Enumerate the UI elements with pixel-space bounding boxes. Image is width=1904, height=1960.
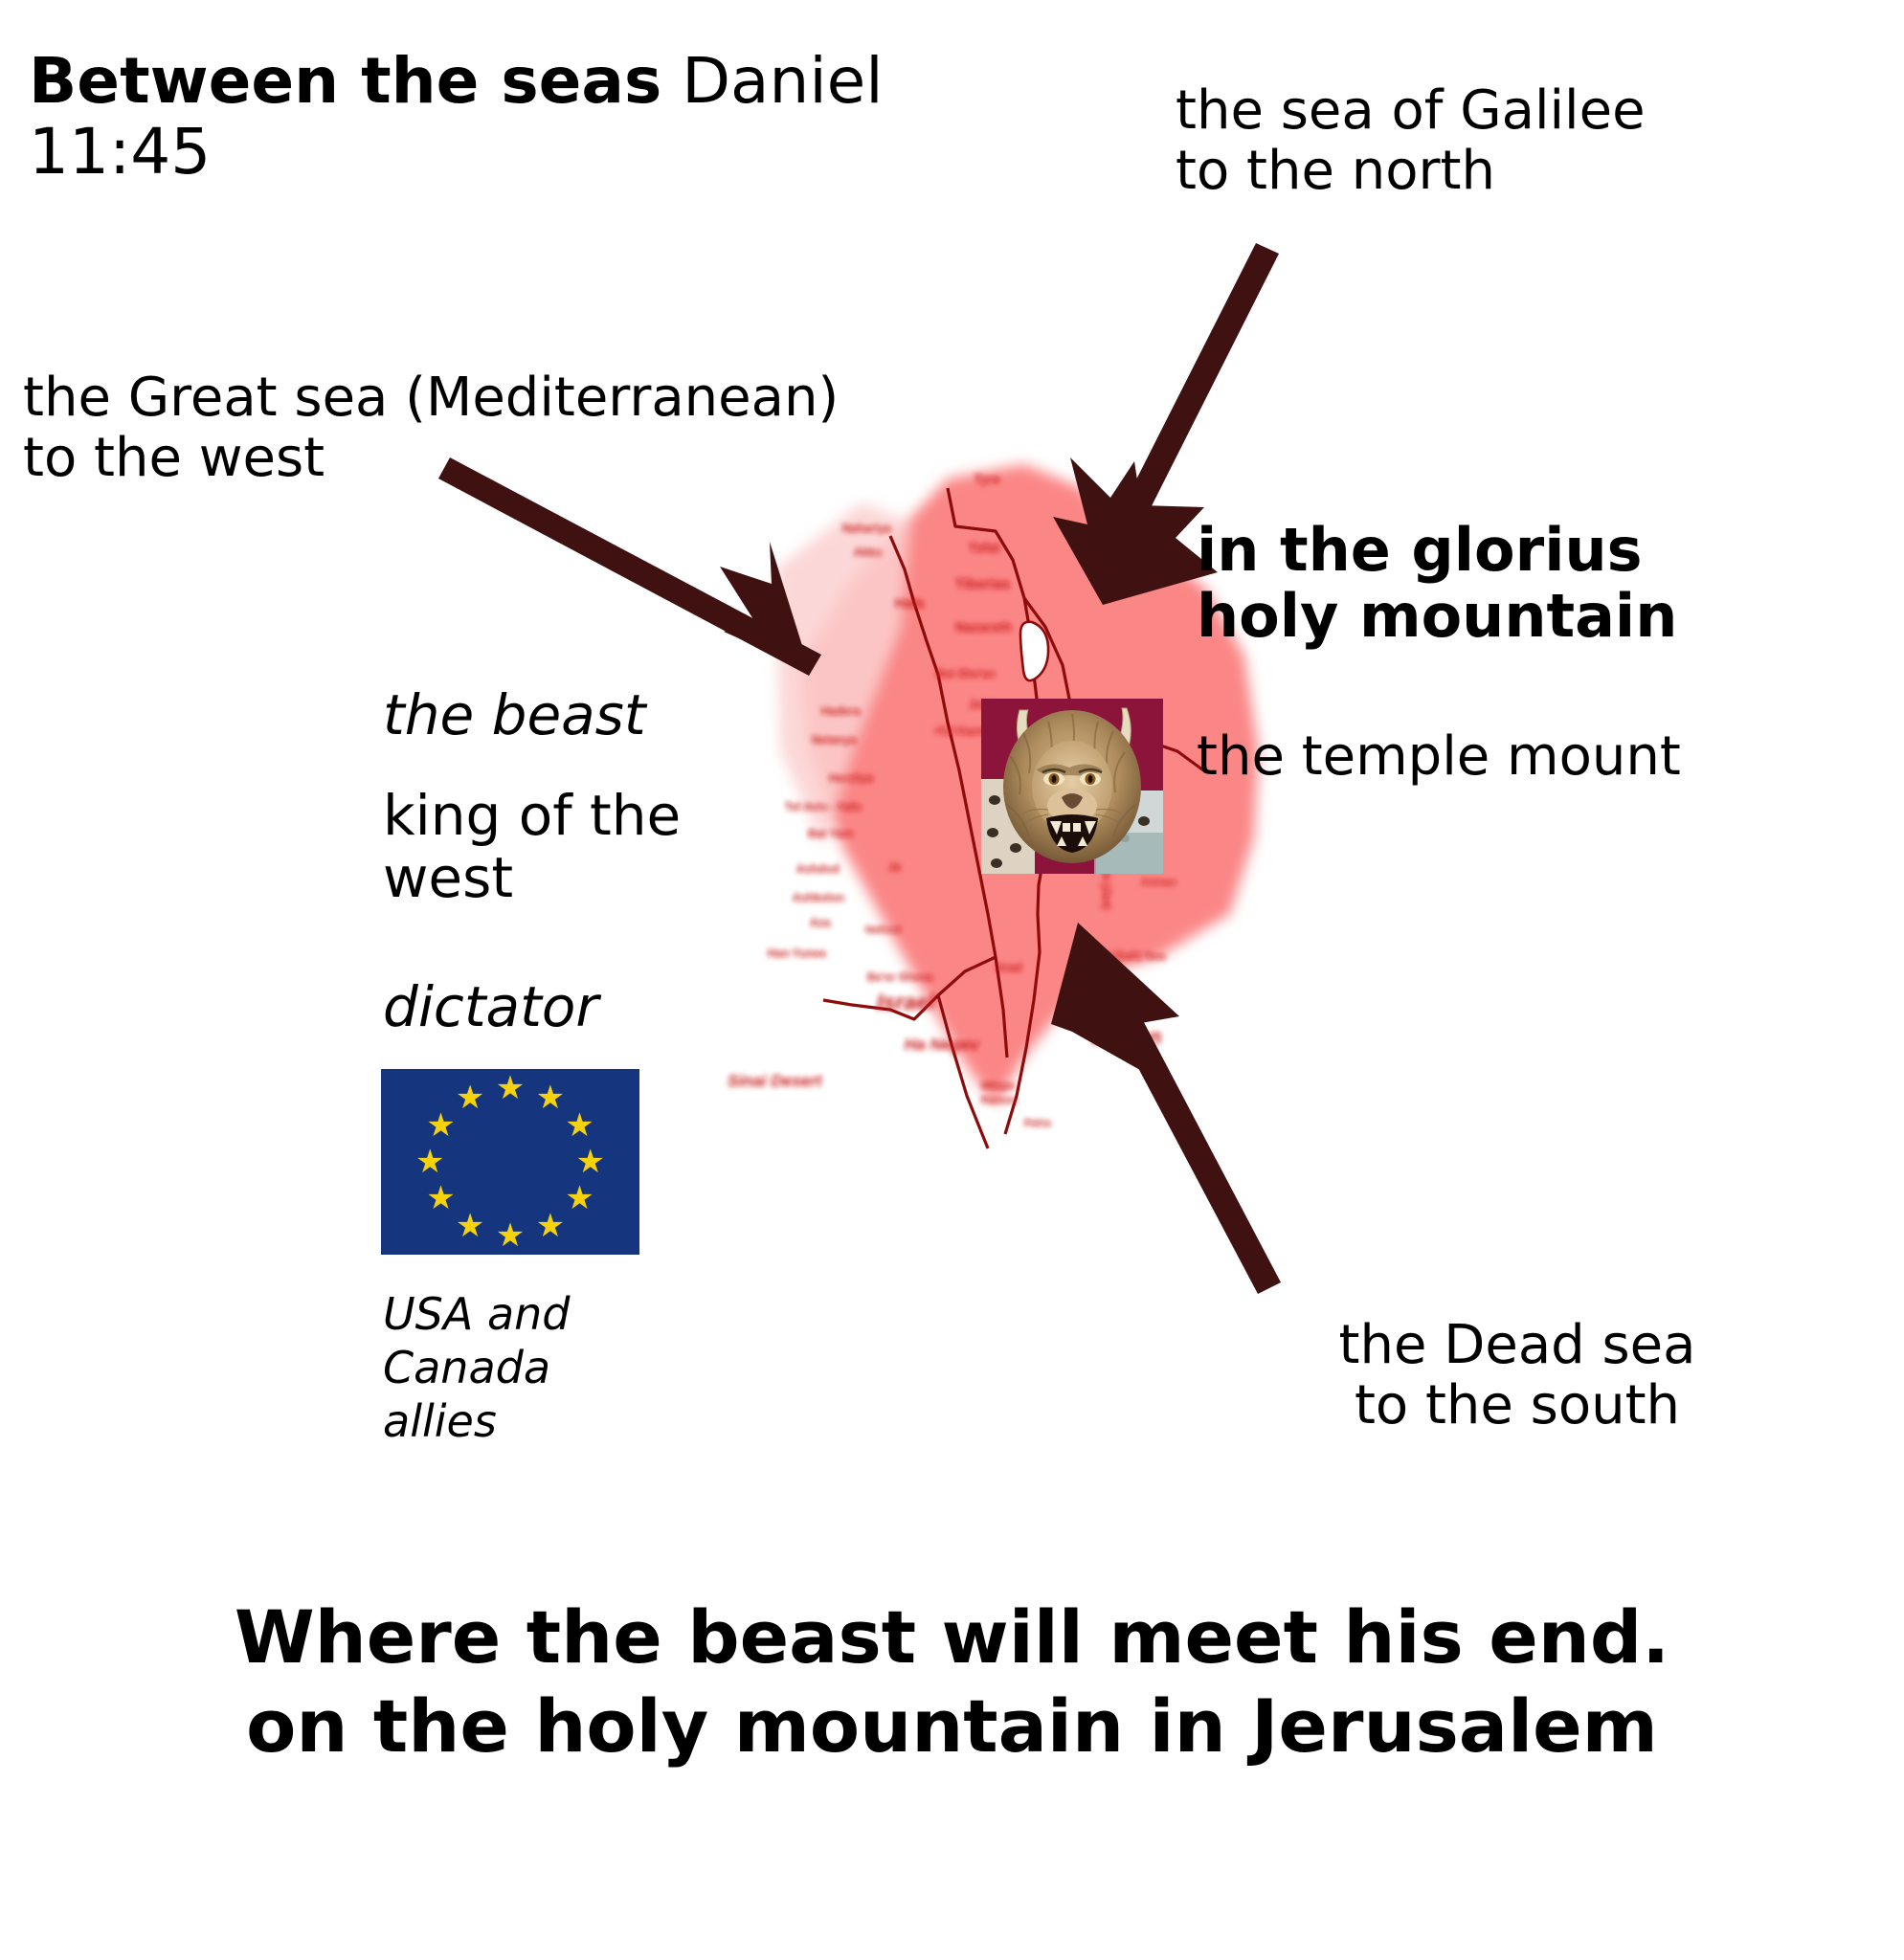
eu-flag-star: ★	[575, 1146, 604, 1178]
svg-text:Akko: Akko	[854, 546, 882, 559]
callout-glorius-holy-mountain: in the glorius holy mountain	[1197, 517, 1904, 650]
svg-text:Han Yunes: Han Yunes	[768, 947, 826, 960]
svg-text:Hafa: Hafa	[895, 595, 925, 611]
svg-text:Je: Je	[888, 860, 902, 874]
callout-dead-sea: the Dead sea to the south	[1221, 1316, 1814, 1436]
svg-text:Israel: Israel	[877, 990, 935, 1014]
caption-line-1: Where the beast will meet his end.	[0, 1593, 1904, 1682]
svg-text:Tel Aviv - Yafo: Tel Aviv - Yafo	[785, 800, 862, 813]
callout-temple-mount: the temple mount	[1197, 727, 1904, 788]
eu-flag-star: ★	[496, 1072, 525, 1104]
eu-flag-star: ★	[536, 1081, 565, 1114]
svg-text:Tsfat: Tsfat	[969, 540, 1000, 555]
eu-flag-star: ★	[565, 1109, 594, 1142]
bottom-caption: Where the beast will meet his end. on th…	[0, 1593, 1904, 1771]
label-king-of-the-west: king of the west	[383, 785, 766, 909]
svg-text:Amman: Amman	[1141, 878, 1176, 888]
svg-text:Ashkelon: Ashkelon	[793, 891, 844, 904]
svg-text:Arad: Arad	[996, 961, 1021, 974]
svg-text:Dead (Salt) Sea: Dead (Salt) Sea	[1082, 949, 1166, 963]
page-title: Between the seas Daniel 11:45	[29, 46, 890, 188]
eu-flag-star: ★	[426, 1182, 455, 1214]
eu-flag-star: ★	[456, 1210, 484, 1242]
svg-text:Sinai Desert: Sinai Desert	[728, 1072, 823, 1090]
eu-flag-stars: ★★★★★★★★★★★★	[381, 1069, 639, 1255]
svg-text:Bet She'an: Bet She'an	[936, 667, 996, 680]
eu-flag-star: ★	[565, 1182, 594, 1214]
caption-line-2: on the holy mountain in Jerusalem	[0, 1682, 1904, 1771]
roaring-horned-lion-image	[981, 699, 1163, 874]
svg-text:Be'er Sheva: Be'er Sheva	[867, 970, 933, 984]
svg-text:Mitspe: Mitspe	[981, 1080, 1015, 1092]
svg-text:Ramon: Ramon	[981, 1095, 1018, 1106]
svg-text:Ashdod: Ashdod	[796, 862, 840, 876]
svg-text:Nahariya: Nahariya	[842, 522, 891, 535]
svg-text:•Tul Karm: •Tul Karm	[934, 724, 987, 738]
eu-flag-star: ★	[426, 1109, 455, 1142]
svg-text:Aza: Aza	[810, 916, 831, 929]
eu-flag-star: ★	[536, 1210, 565, 1242]
svg-text:Bat Yam: Bat Yam	[808, 827, 853, 840]
eu-flag-star: ★	[496, 1219, 525, 1252]
label-dictator: dictator	[383, 976, 766, 1038]
page-title-bold: Between the seas	[29, 44, 661, 118]
svg-text:Jordan: Jordan	[1091, 1025, 1161, 1049]
svg-text:Herzliya: Herzliya	[829, 771, 873, 785]
eu-flag-star: ★	[415, 1146, 444, 1178]
svg-text:Ha Negev: Ha Negev	[905, 1036, 980, 1054]
label-usa-canada-allies: USA and Canada allies	[383, 1287, 670, 1448]
callout-sea-of-galilee: the sea of Galilee to the north	[1176, 81, 1846, 201]
callout-great-sea: the Great sea (Mediterranean) to the wes…	[23, 368, 1095, 488]
label-the-beast: the beast	[383, 684, 833, 746]
european-union-flag-icon: ★★★★★★★★★★★★	[381, 1069, 639, 1255]
svg-text:Nazareth: Nazareth	[955, 619, 1012, 635]
svg-text:Netivot: Netivot	[865, 924, 902, 936]
svg-text:Petra: Petra	[1024, 1118, 1051, 1129]
svg-text:Tiberias: Tiberias	[955, 576, 1010, 592]
eu-flag-star: ★	[456, 1081, 484, 1114]
